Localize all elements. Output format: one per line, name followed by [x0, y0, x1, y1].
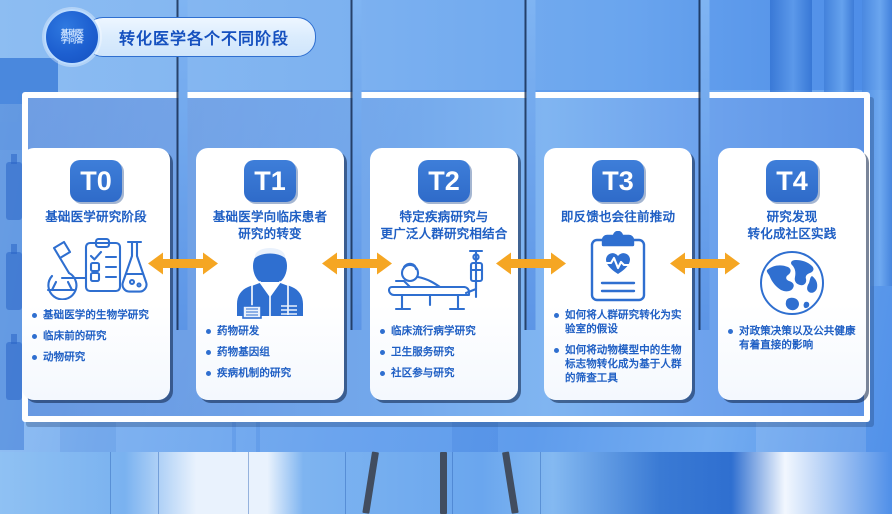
background-bottle-2 [6, 252, 22, 310]
connector-t0-t1 [170, 148, 196, 400]
list-item: 药物基因组 [205, 345, 335, 359]
stage-bullets-t0: 基础医学的生物学研究 临床前的研究 动物研究 [31, 308, 161, 364]
stage-bullets-t4: 对政策决策以及公共健康有着直接的影响 [727, 324, 857, 352]
double-arrow-icon [148, 250, 218, 283]
list-item: 动物研究 [31, 350, 161, 364]
stage-bullets-t1: 药物研发 药物基因组 疾病机制的研究 [205, 324, 335, 380]
list-item: 社区参与研究 [379, 366, 509, 380]
stage-title-t0: 基础医学研究阶段 [31, 209, 161, 226]
floor-seam-3 [248, 452, 249, 514]
floor-seam-5 [452, 452, 453, 514]
stage-badge-t2: T2 [418, 160, 470, 202]
stage-badge-t4: T4 [766, 160, 818, 202]
stage-title-t2: 特定疾病研究与 更广泛人群研究相结合 [379, 209, 509, 242]
patient-bed-iv-icon [379, 244, 509, 322]
easel-leg-center [440, 452, 447, 514]
list-item: 临床前的研究 [31, 329, 161, 343]
stage-badge-t1: T1 [244, 160, 296, 202]
list-item: 临床流行病学研究 [379, 324, 509, 338]
list-item: 对政策决策以及公共健康有着直接的影响 [727, 324, 857, 352]
connector-t1-t2 [344, 148, 370, 400]
connector-t3-t4 [692, 148, 718, 400]
stage-bullets-t2: 临床流行病学研究 卫生服务研究 社区参与研究 [379, 324, 509, 380]
page-title: 转化医学各个不同阶段 [84, 17, 316, 57]
globe-icon [727, 244, 857, 322]
floor-seam-4 [345, 452, 346, 514]
floor-seam-1 [110, 452, 111, 514]
stage-title-t4: 研究发现 转化成社区实践 [727, 209, 857, 242]
stage-bullets-t3: 如何将人群研究转化为实验室的假设 如何将动物模型中的生物标志物转化成为基于人群的… [553, 308, 683, 385]
double-arrow-icon [496, 250, 566, 283]
clipboard-heartbeat-icon [553, 228, 683, 306]
list-item: 卫生服务研究 [379, 345, 509, 359]
list-item: 如何将动物模型中的生物标志物转化成为基于人群的筛查工具 [553, 343, 683, 385]
stage-title-t1: 基础医学向临床患者 研究的转变 [205, 209, 335, 242]
floor-seam-2 [158, 452, 159, 514]
stage-badge-t0: T0 [70, 160, 122, 202]
background-bottle-3 [6, 342, 22, 400]
doctor-icon [205, 244, 335, 322]
microscope-clipboard-flask-icon [31, 228, 161, 306]
brand-logo: 基础医 学问答 [44, 9, 100, 65]
floor-seam-6 [540, 452, 541, 514]
list-item: 如何将人群研究转化为实验室的假设 [553, 308, 683, 336]
list-item: 基础医学的生物学研究 [31, 308, 161, 322]
brand-logo-text: 基础医 学问答 [61, 29, 84, 44]
stage-title-t3: 即反馈也会往前推动 [553, 209, 683, 226]
background-bottle-1 [6, 162, 22, 220]
stage-badge-t3: T3 [592, 160, 644, 202]
list-item: 疾病机制的研究 [205, 366, 335, 380]
header: 基础医 学问答 转化医学各个不同阶段 [44, 14, 316, 60]
stage-card-t4[interactable]: T4 研究发现 转化成社区实践 对政策决策以及公共健康有着直接的影响 [718, 148, 866, 400]
stage-card-row: T0 基础医学研究阶段 [22, 148, 870, 408]
infographic-canvas: 基础医 学问答 转化医学各个不同阶段 T0 基础医学研究阶段 [0, 0, 892, 514]
list-item: 药物研发 [205, 324, 335, 338]
connector-t2-t3 [518, 148, 544, 400]
double-arrow-icon [670, 250, 740, 283]
double-arrow-icon [322, 250, 392, 283]
